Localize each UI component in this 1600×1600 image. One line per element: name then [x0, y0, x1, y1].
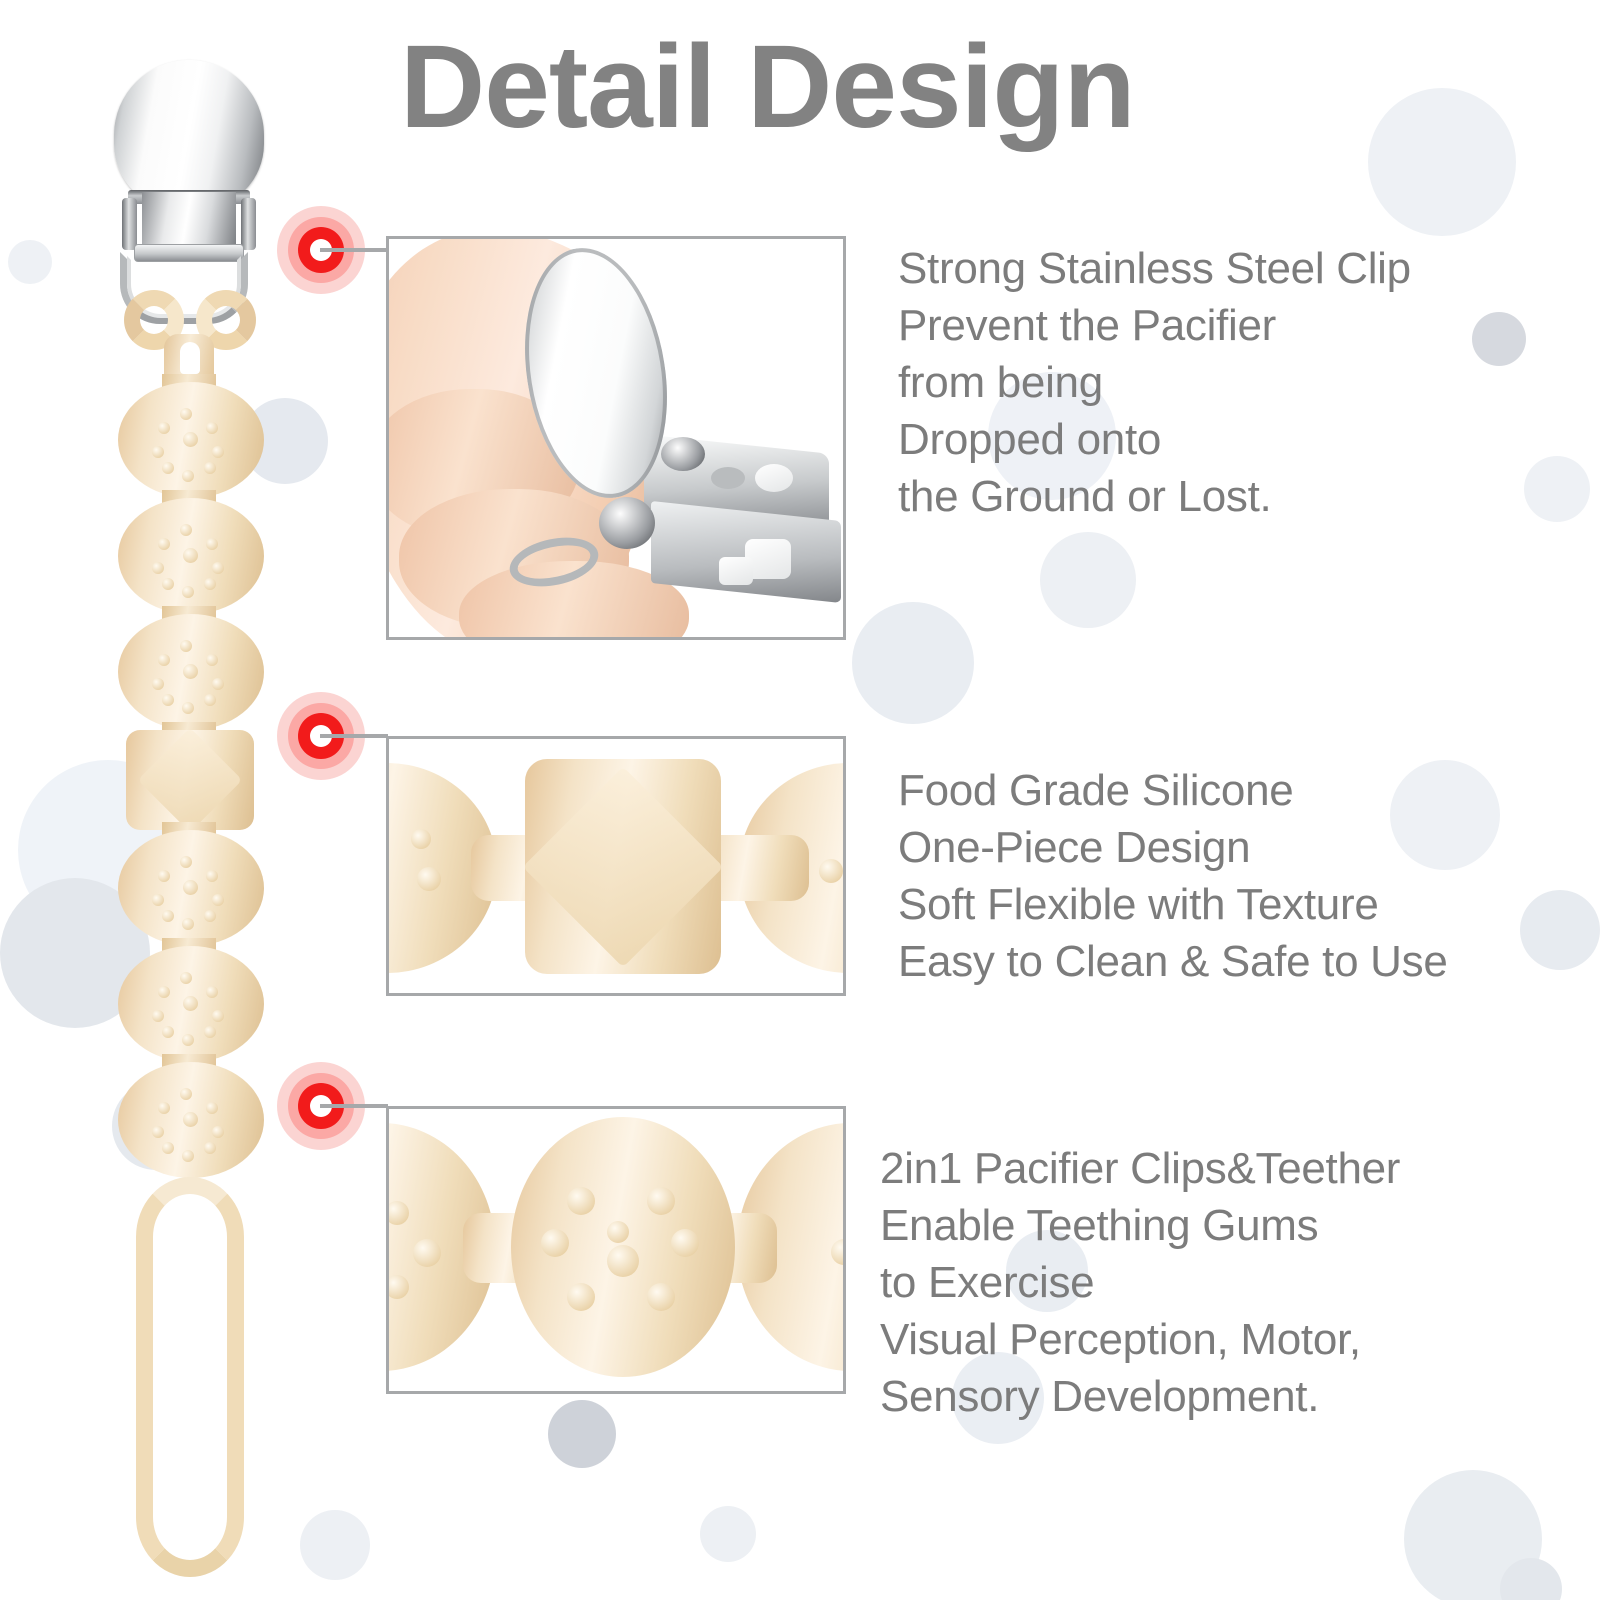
clip-spring-right	[241, 198, 256, 250]
round-bead	[118, 614, 264, 730]
bead-dot-pattern	[118, 382, 264, 498]
round-bead	[118, 946, 264, 1062]
background-bubble	[1368, 88, 1516, 236]
bead-facet	[523, 766, 724, 967]
bead-facet	[138, 728, 243, 833]
bead-dot-pattern	[118, 830, 264, 946]
detail-image-box-1	[386, 236, 846, 640]
round-bead-main	[511, 1117, 735, 1377]
clip-white-nub	[755, 464, 793, 492]
marker-leader-line-2	[320, 734, 388, 738]
square-faceted-bead	[126, 730, 254, 830]
background-bubble	[300, 1510, 370, 1580]
bead-dot-pattern	[118, 1062, 264, 1178]
bead-dot	[567, 1283, 595, 1311]
background-bubble	[8, 240, 52, 284]
round-textured-bead-closeup	[389, 1109, 843, 1391]
bead-dot	[819, 859, 843, 883]
bead-dot-pattern	[118, 946, 264, 1062]
bead-dot	[607, 1221, 629, 1243]
bead-dot-pattern	[118, 614, 264, 730]
background-bubble	[1404, 1470, 1542, 1600]
product-illustration	[96, 52, 286, 1572]
background-bubble	[700, 1506, 756, 1562]
square-silicone-bead-closeup	[389, 739, 843, 993]
bead-dot	[671, 1229, 699, 1257]
background-bubble	[852, 602, 974, 724]
detail-image-box-2	[386, 736, 846, 996]
infographic-canvas: Detail Design	[0, 0, 1600, 1600]
clip-spring-left	[122, 198, 137, 250]
clip-pivot-left	[599, 497, 655, 549]
round-bead	[118, 830, 264, 946]
clip-pivot-right	[661, 437, 705, 471]
clip-neck	[142, 192, 236, 244]
bead-dot	[413, 1239, 441, 1267]
feature-text-1: Strong Stainless Steel Clip Prevent the …	[898, 240, 1538, 525]
feature-text-3: 2in1 Pacifier Clips&Teether Enable Teeth…	[880, 1140, 1580, 1425]
feature-text-2: Food Grade Silicone One-Piece Design Sof…	[898, 762, 1558, 990]
stainless-steel-clip-photo	[389, 239, 843, 637]
round-bead	[118, 382, 264, 498]
bead-dot	[417, 867, 441, 891]
detail-image-box-3	[386, 1106, 846, 1394]
marker-leader-line-3	[320, 1104, 388, 1108]
page-title: Detail Design	[400, 28, 1135, 146]
bead-dot	[411, 829, 431, 849]
clip-head-icon	[114, 60, 264, 210]
marker-leader-line-1	[320, 248, 388, 252]
bead-dot-pattern	[118, 498, 264, 614]
bead-dot	[541, 1229, 569, 1257]
clip-hole	[711, 467, 745, 489]
square-faceted-bead	[525, 759, 721, 974]
background-bubble	[1040, 532, 1136, 628]
bead-dot	[647, 1187, 675, 1215]
background-bubble	[548, 1400, 616, 1468]
background-bubble	[1500, 1558, 1562, 1600]
round-bead	[118, 498, 264, 614]
bead-dot	[647, 1283, 675, 1311]
silicone-neck-hole	[180, 342, 200, 374]
bead-dot	[607, 1245, 639, 1277]
bead-dot-pattern	[511, 1117, 735, 1377]
bead-dot	[567, 1187, 595, 1215]
round-bead	[118, 1062, 264, 1178]
silicone-tail-loop	[136, 1177, 244, 1577]
clip-white-nub	[719, 557, 753, 585]
